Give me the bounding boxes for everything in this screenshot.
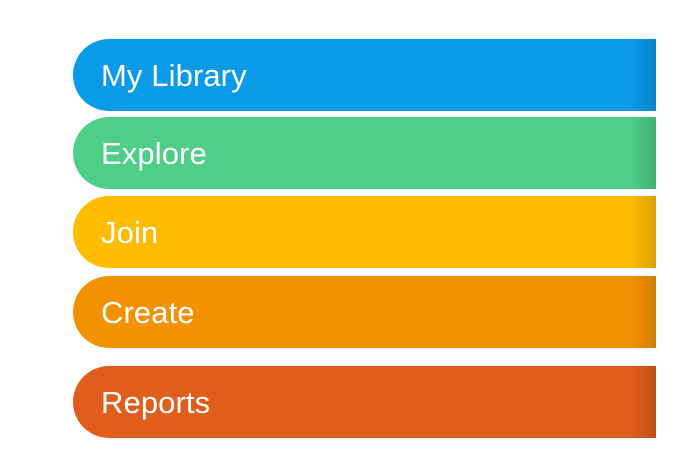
nav-item-label-create: Create: [73, 297, 195, 328]
nav-item-label-reports: Reports: [73, 387, 210, 418]
nav-item-label-join: Join: [73, 217, 158, 248]
nav-item-reports[interactable]: Reports: [73, 366, 656, 438]
main-navigation-menu: My Library Explore Join Create Reports: [0, 0, 682, 460]
nav-item-label-my-library: My Library: [73, 60, 247, 91]
nav-item-join[interactable]: Join: [73, 196, 656, 268]
nav-item-create[interactable]: Create: [73, 276, 656, 348]
nav-item-label-explore: Explore: [73, 138, 207, 169]
nav-item-my-library[interactable]: My Library: [73, 39, 656, 111]
nav-item-explore[interactable]: Explore: [73, 117, 656, 189]
